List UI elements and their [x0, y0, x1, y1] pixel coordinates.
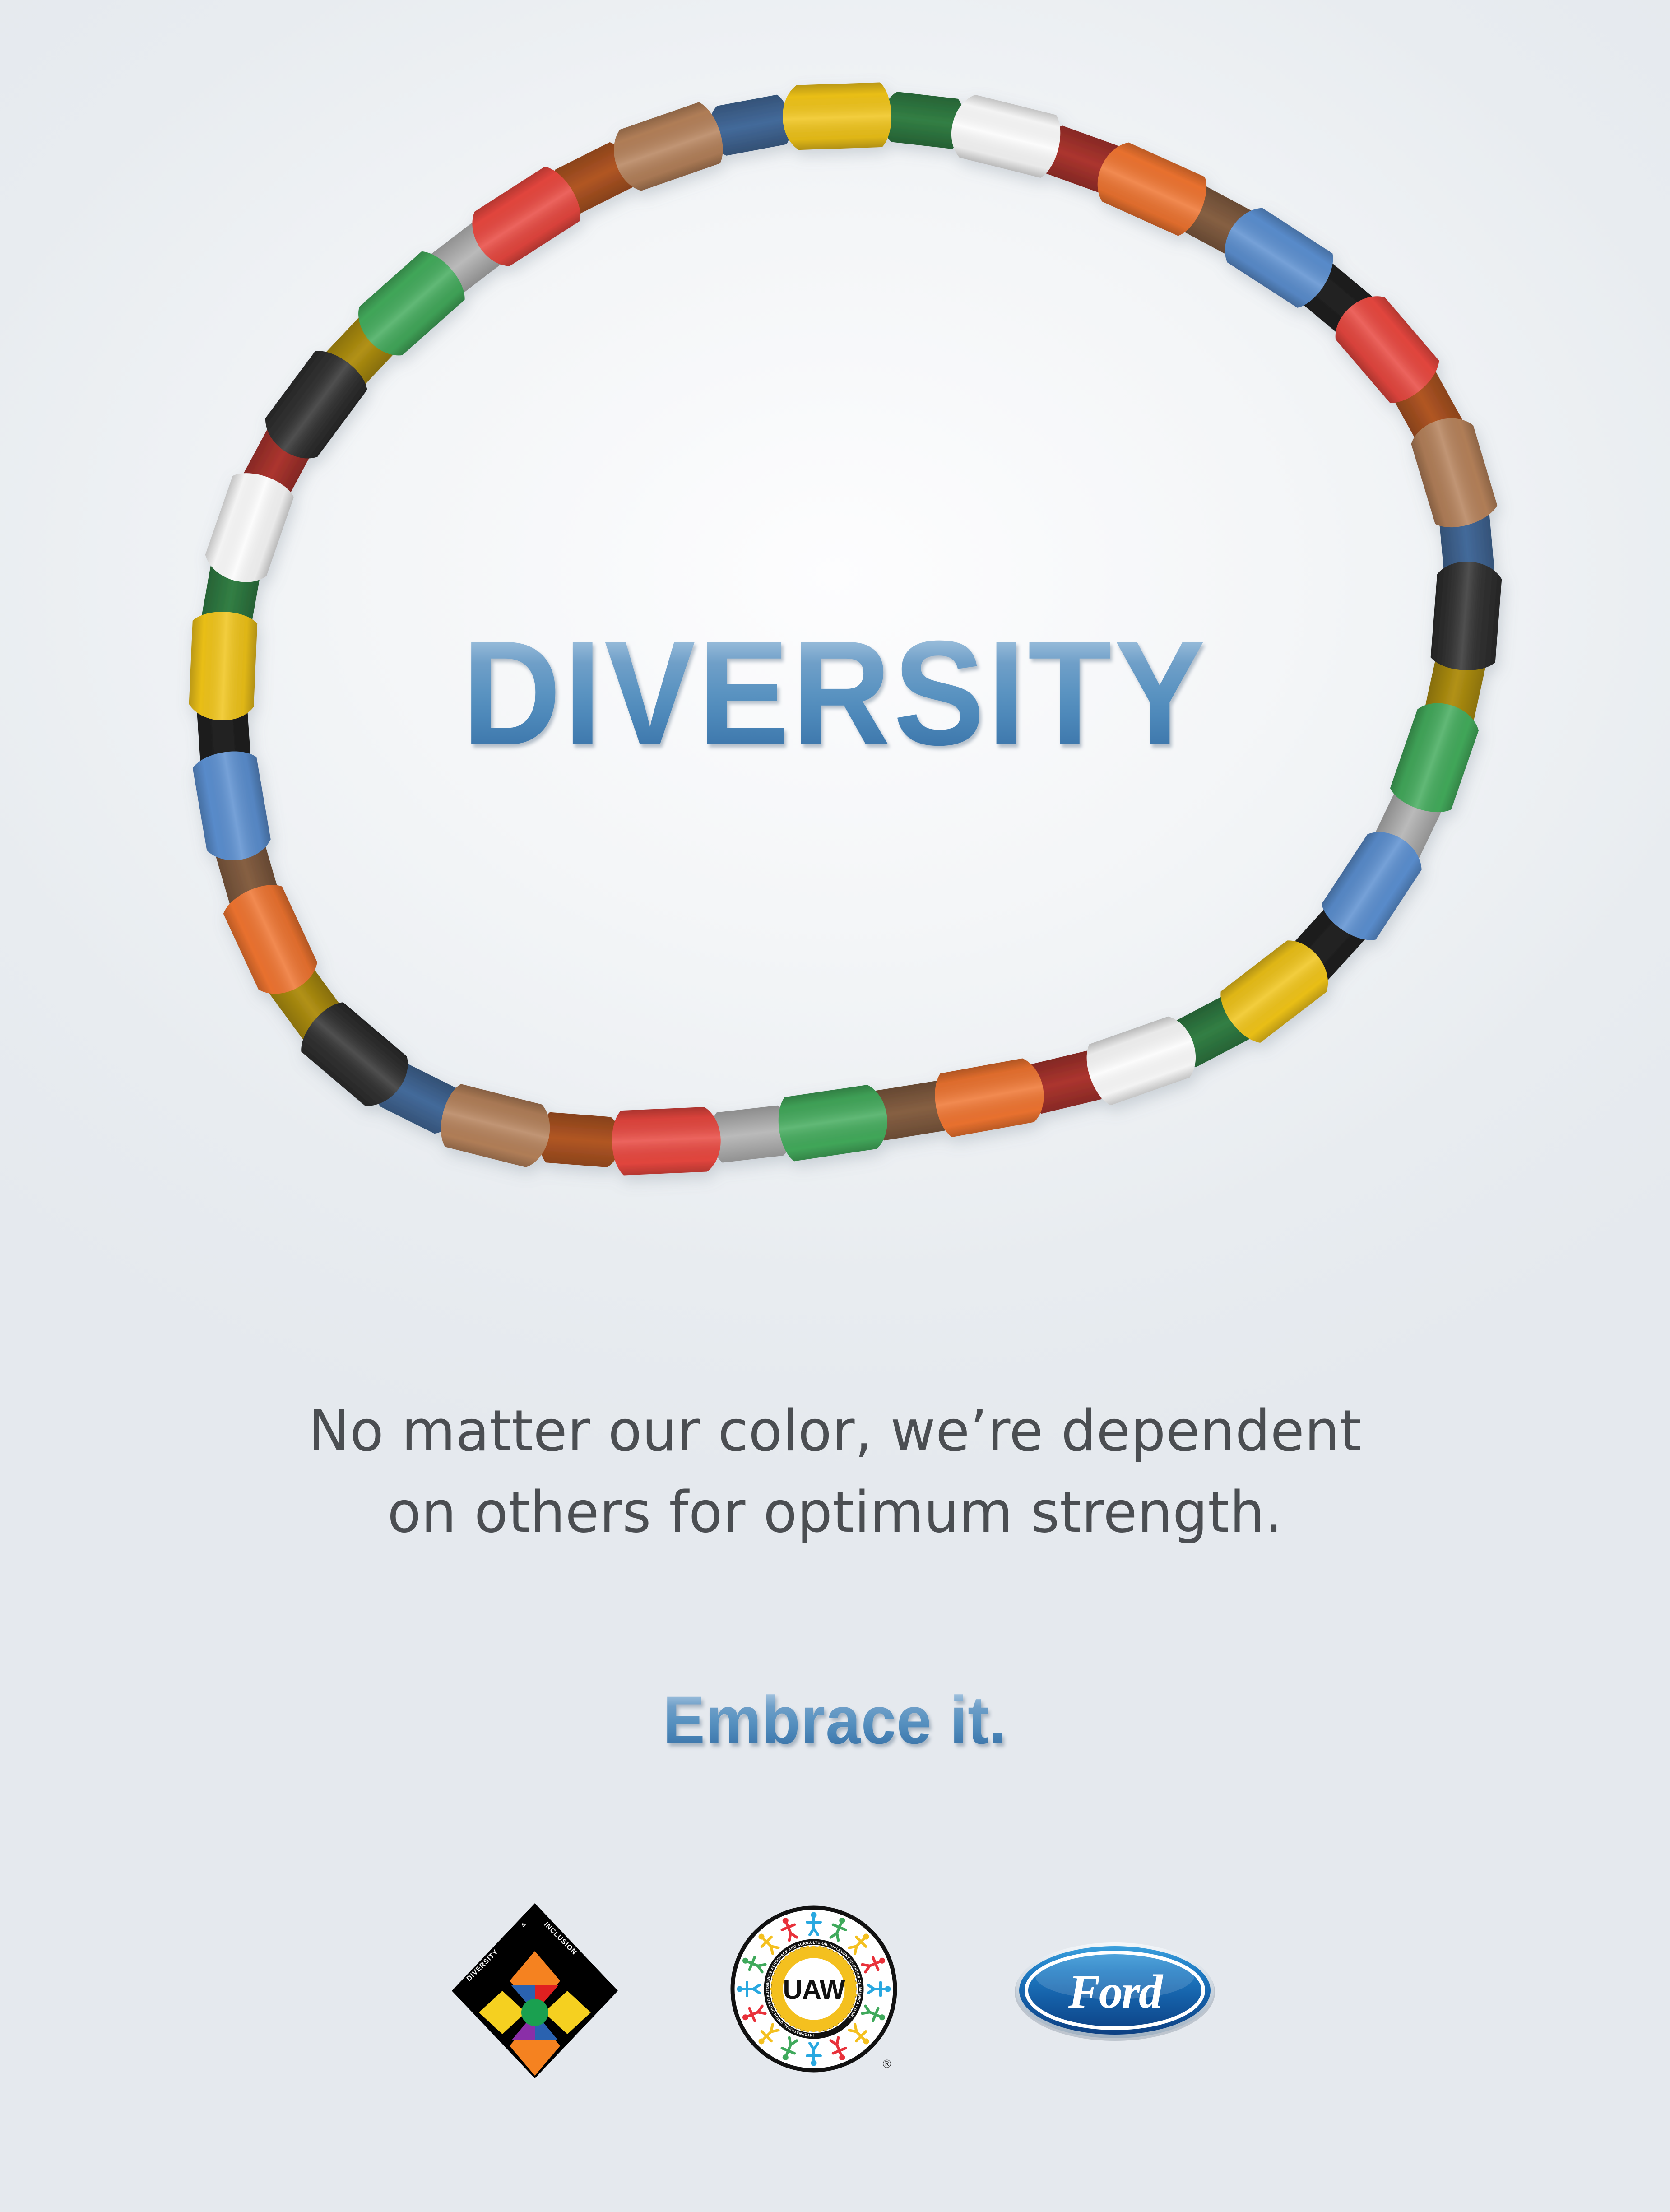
gear-tooth	[851, 1983, 857, 1984]
gear-tooth	[771, 1994, 776, 1995]
gear-tooth	[772, 2000, 778, 2001]
gear-tooth	[850, 2000, 856, 2001]
gear-tooth	[819, 1946, 820, 1952]
di-circle-green	[521, 1999, 548, 2026]
gear-tooth	[807, 2026, 808, 2032]
ford-logo: Ford	[1009, 1934, 1221, 2047]
registered-mark-icon: ®	[882, 2057, 891, 2070]
gear-tooth	[851, 1994, 857, 1995]
gear-tooth	[771, 1983, 776, 1984]
chain-link	[538, 1111, 622, 1168]
uaw-logo: INTERNATIONAL UNION UNITED AUTOMOBILE AE…	[729, 1901, 900, 2081]
gear-tooth	[772, 1977, 778, 1978]
chain-link	[775, 1083, 891, 1163]
tagline-line-2: on others for optimum strength.	[25, 1472, 1645, 1553]
chain-link	[611, 1106, 722, 1176]
chain-link	[945, 91, 1066, 181]
chain-link	[435, 1082, 557, 1171]
uaw-wordmark: UAW	[783, 1975, 845, 2005]
call-to-action: Embrace it.	[59, 1686, 1612, 1754]
logo-row: DIVERSITY & INCLUSION	[0, 1873, 1670, 2108]
gear-tooth	[807, 1946, 808, 1952]
gear-tooth	[825, 2026, 826, 2031]
diversity-poster: DIVERSITY No matter our color, we’re dep…	[0, 0, 1670, 2212]
chain-link	[930, 1055, 1049, 1139]
gear-tooth	[850, 1977, 856, 1978]
gear-tooth	[802, 2026, 803, 2031]
gear-tooth	[825, 1947, 826, 1953]
ford-wordmark: Ford	[1068, 1965, 1164, 2018]
tagline: No matter our color, we’re dependent on …	[25, 1390, 1645, 1553]
page-title: DIVERSITY	[67, 618, 1603, 767]
gear-tooth	[802, 1947, 803, 1953]
tagline-line-1: No matter our color, we’re dependent	[25, 1390, 1645, 1472]
gear-tooth	[819, 2026, 820, 2032]
chain-link	[782, 82, 892, 150]
diversity-inclusion-logo: DIVERSITY & INCLUSION	[449, 1901, 621, 2081]
